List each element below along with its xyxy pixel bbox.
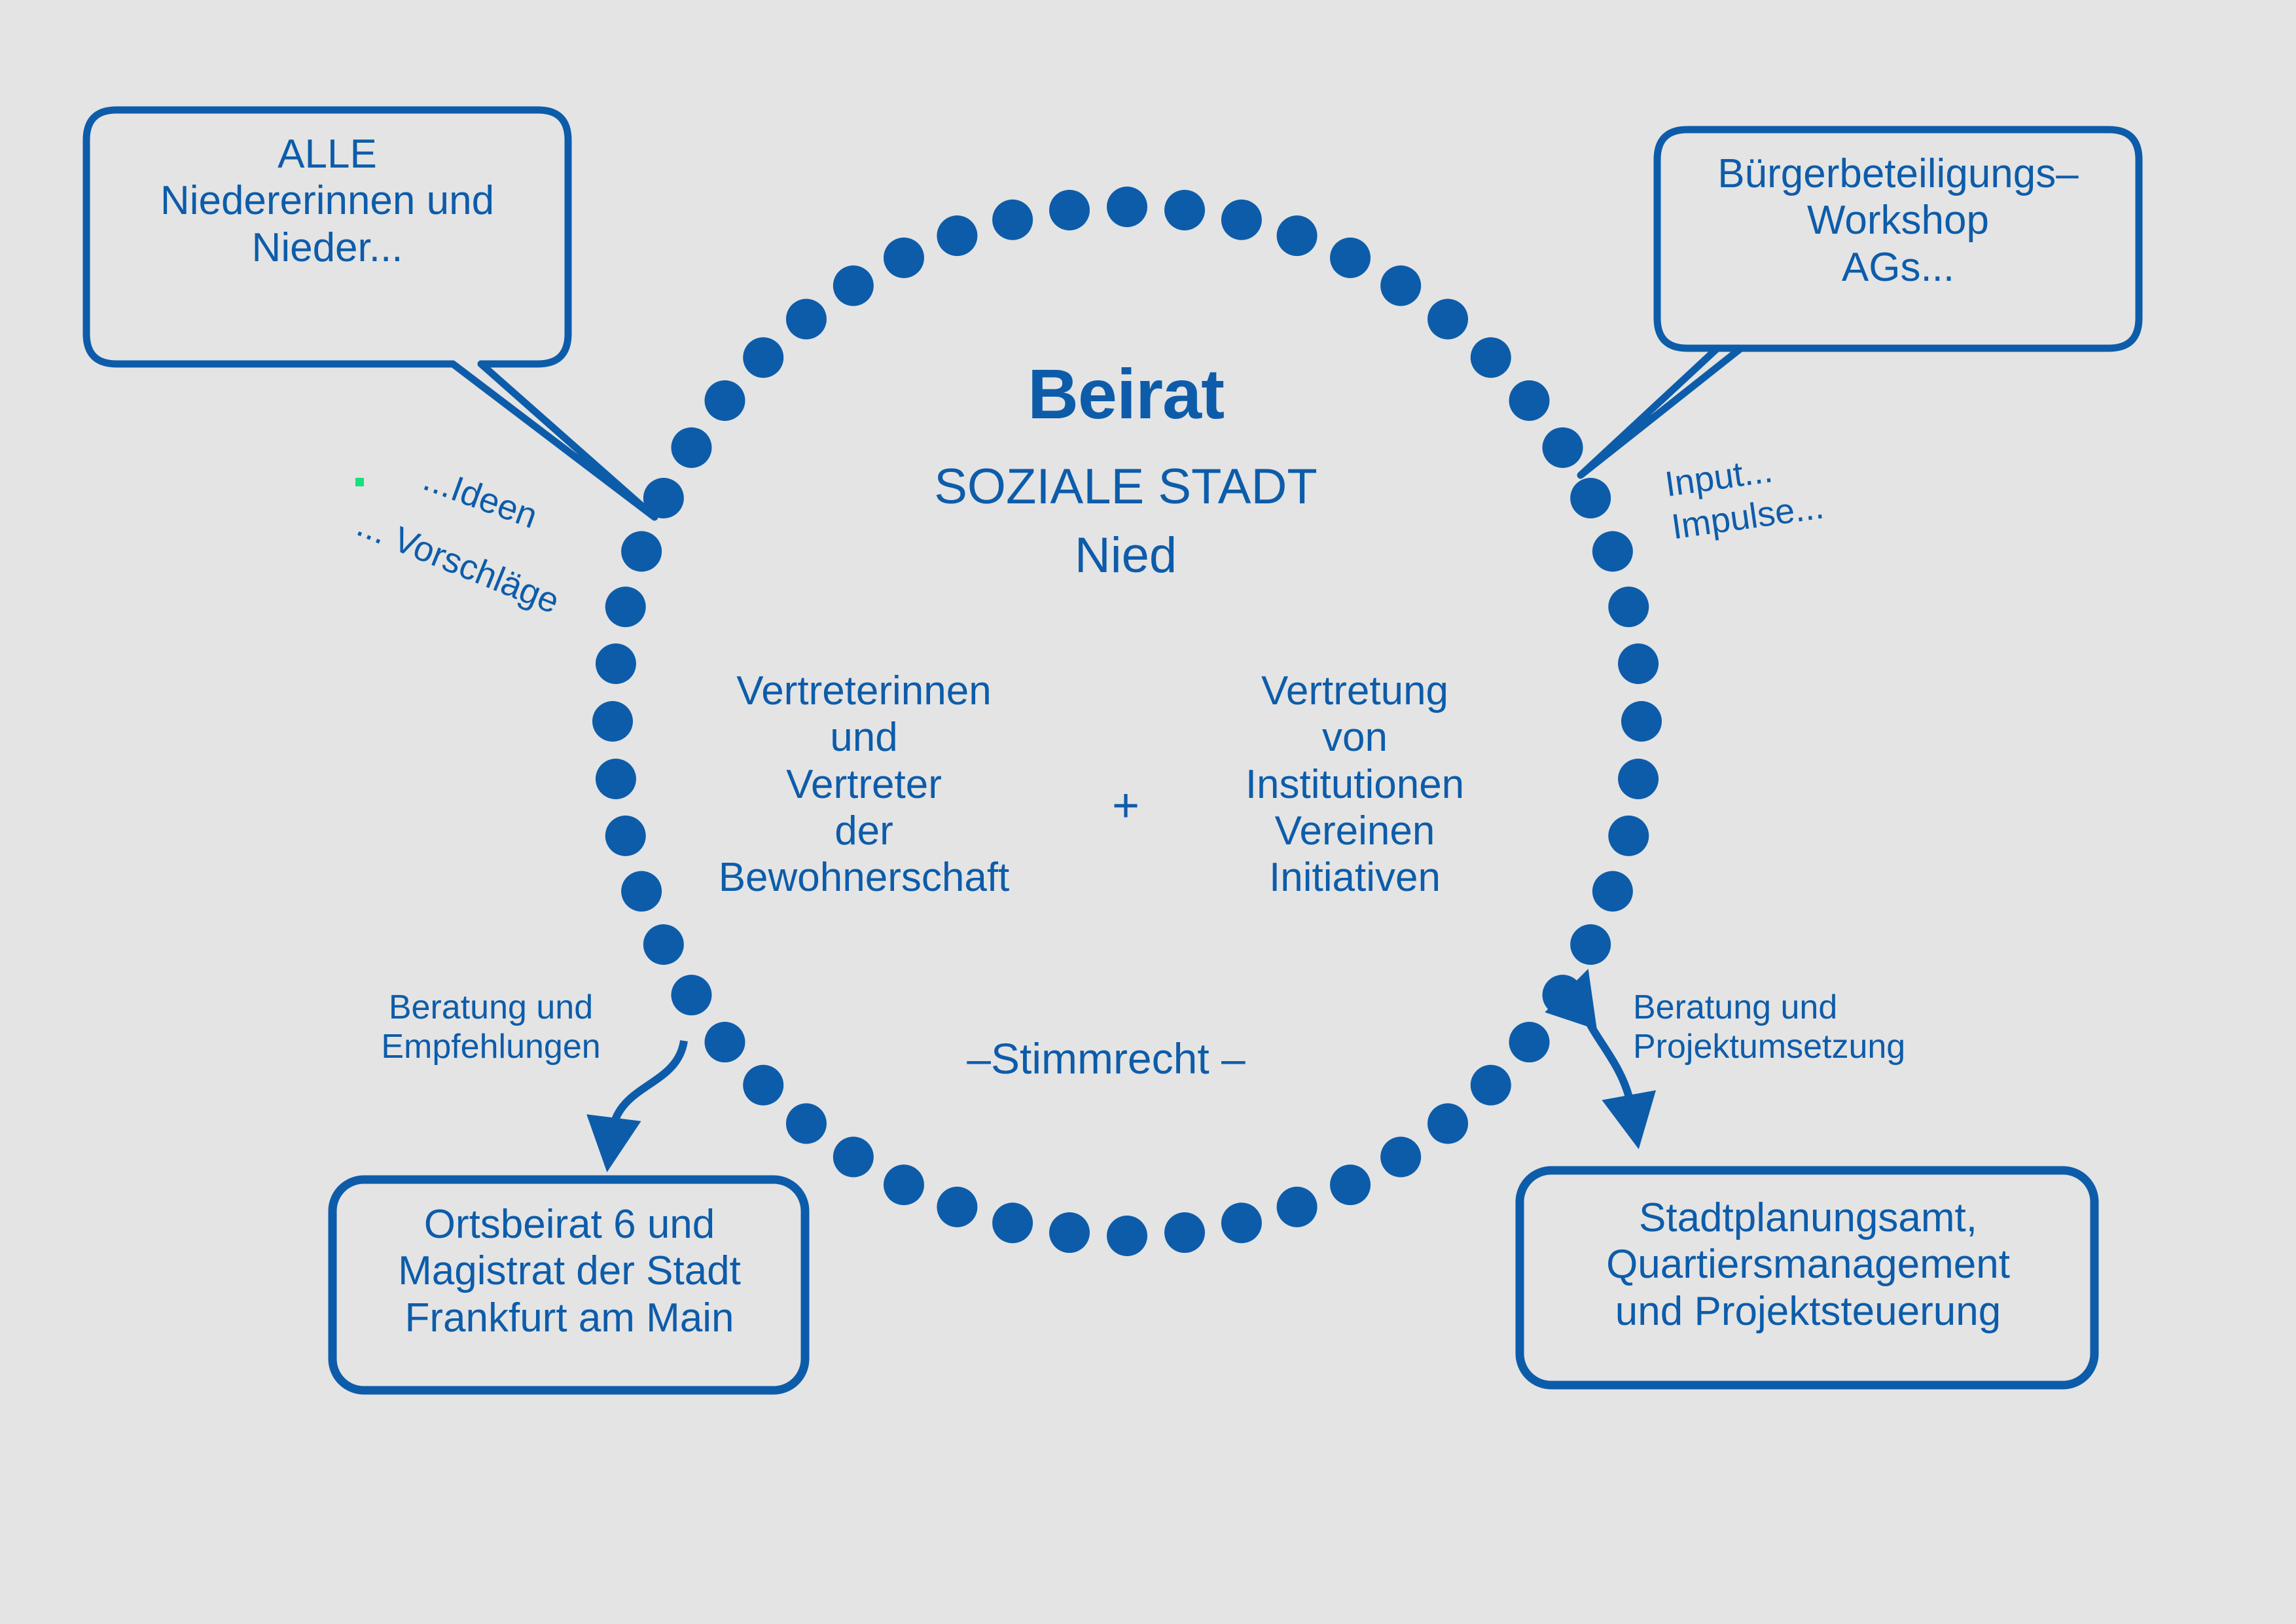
circle-dot xyxy=(786,1104,827,1144)
circle-dot xyxy=(1621,701,1662,742)
circle-dot xyxy=(1608,586,1649,627)
circle-dot xyxy=(743,1065,783,1106)
circle-dot xyxy=(1509,1022,1550,1062)
circle-dot xyxy=(1570,478,1611,518)
center-column-right: Vertretung von Institutionen Vereinen In… xyxy=(1204,668,1505,901)
box-ortsbeirat-label: Ortsbeirat 6 und Magistrat der Stadt Fra… xyxy=(344,1201,795,1341)
circle-dot xyxy=(671,975,711,1015)
circle-dot xyxy=(1221,1202,1262,1243)
circle-dot xyxy=(937,215,977,256)
circle-dot xyxy=(596,759,636,799)
circle-dot xyxy=(1570,924,1611,965)
circle-dot xyxy=(992,200,1033,240)
center-column-left: Vertreterinnen und Vertreter der Bewohne… xyxy=(694,668,1034,901)
circle-dot xyxy=(1471,337,1511,378)
circle-dot xyxy=(592,701,633,742)
circle-dot xyxy=(704,380,745,421)
circle-dot xyxy=(884,1164,924,1205)
circle-dot xyxy=(1164,1212,1205,1253)
circle-dot xyxy=(1107,187,1147,227)
diagram-canvas: ALLE Niedererinnen und Nieder... Bürgerb… xyxy=(0,0,2296,1624)
circle-dot xyxy=(1330,1164,1371,1205)
circle-dot xyxy=(1380,265,1421,306)
circle-dot xyxy=(1049,190,1090,230)
circle-dot xyxy=(884,238,924,278)
green-dot-marker xyxy=(355,478,364,486)
circle-dot xyxy=(1427,298,1468,339)
speech-bubble-left-label: ALLE Niedererinnen und Nieder... xyxy=(98,131,556,271)
circle-dot xyxy=(1277,1187,1318,1227)
circle-dot xyxy=(1380,1137,1421,1178)
circle-dot xyxy=(786,298,827,339)
circle-dot xyxy=(643,924,684,965)
circle-dot xyxy=(1277,215,1318,256)
center-subtitle-line1: SOZIALE STADT xyxy=(798,458,1453,515)
circle-dot xyxy=(621,871,662,912)
circle-dot xyxy=(1164,190,1205,230)
circle-dot xyxy=(621,531,662,571)
circle-dot xyxy=(1592,531,1633,571)
circle-dot xyxy=(1592,871,1633,912)
circle-dot xyxy=(1618,759,1659,799)
circle-dot xyxy=(1608,816,1649,856)
circle-dot xyxy=(1543,427,1583,468)
circle-dot xyxy=(1221,200,1262,240)
circle-dot xyxy=(1107,1216,1147,1256)
stimmrecht-note: –Stimmrecht – xyxy=(942,1034,1270,1084)
circle-dot xyxy=(671,427,711,468)
center-subtitle-line2: Nied xyxy=(798,527,1453,584)
circle-dot xyxy=(704,1022,745,1062)
annotation-beratung-empfehlungen: Beratung und Empfehlungen xyxy=(344,988,638,1067)
arrow-beratung-projektumsetzung xyxy=(1581,982,1636,1136)
circle-dot xyxy=(833,265,874,306)
circle-dot xyxy=(605,816,646,856)
circle-dot xyxy=(937,1187,977,1227)
page-title: Beirat xyxy=(831,353,1420,435)
speech-bubble-right-label: Bürgerbeteiligungs– Workshop AGs... xyxy=(1669,151,2127,291)
circle-dot xyxy=(1330,238,1371,278)
circle-dot xyxy=(1543,975,1583,1015)
circle-dot xyxy=(1427,1104,1468,1144)
annotation-beratung-projektumsetzung: Beratung und Projektumsetzung xyxy=(1633,988,1941,1067)
circle-dot xyxy=(743,337,783,378)
circle-dot xyxy=(1049,1212,1090,1253)
circle-dot xyxy=(992,1202,1033,1243)
circle-dot xyxy=(833,1137,874,1178)
circle-dot xyxy=(1509,380,1550,421)
box-stadtplanungsamt-label: Stadtplanungsamt, Quartiersmanagement un… xyxy=(1525,1195,2091,1335)
circle-dot xyxy=(1618,643,1659,684)
circle-dot xyxy=(596,643,636,684)
plus-symbol: + xyxy=(1073,779,1178,833)
circle-dot xyxy=(1471,1065,1511,1106)
